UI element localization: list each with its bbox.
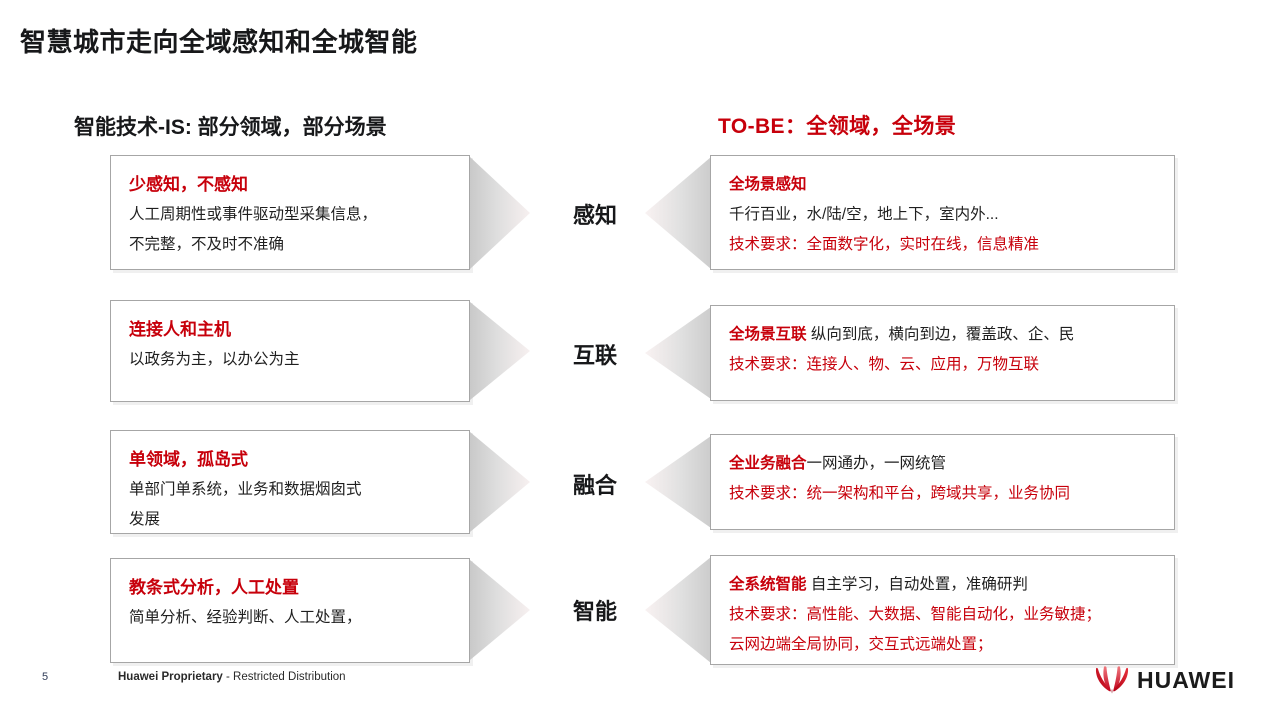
to-be-card-3: 全业务融合一网通办，一网统管 技术要求：统一架构和平台，跨域共享，业务协同	[710, 434, 1175, 530]
as-is-column-heading: 智能技术-IS: 部分领域，部分场景	[74, 111, 387, 141]
arrow-right-icon-2	[470, 302, 530, 400]
footer-confidentiality-notice: Huawei Proprietary - Restricted Distribu…	[118, 671, 346, 683]
arrow-left-icon-2	[645, 307, 711, 399]
as-is-card-3-line-1: 单部门单系统，业务和数据烟囱式	[129, 475, 451, 505]
to-be-card-1-headline: 全场景感知	[729, 170, 1156, 200]
to-be-card-1-line-1: 千行百业，水/陆/空，地上下，室内外...	[729, 200, 1156, 230]
as-is-card-1-line-1: 人工周期性或事件驱动型采集信息，	[129, 200, 451, 230]
to-be-card-3-headline-rest: 一网通办，一网统管	[807, 455, 947, 472]
to-be-card-4-headline-red: 全系统智能	[729, 576, 807, 593]
arrow-left-icon-3	[645, 436, 711, 528]
as-is-card-4: 教条式分析，人工处置 简单分析、经验判断、人工处置，	[110, 558, 470, 663]
to-be-card-2-headline-rest: 纵向到底，横向到边，覆盖政、企、民	[807, 326, 1075, 343]
to-be-card-2-headline-red: 全场景互联	[729, 326, 807, 343]
to-be-card-4-line-2: 云网边端全局协同，交互式远端处置；	[729, 630, 1156, 660]
to-be-card-4-headline-rest: 自主学习，自动处置，准确研判	[807, 576, 1028, 593]
to-be-column-heading: TO-BE：全领域，全场景	[718, 110, 956, 140]
to-be-card-4-headline: 全系统智能 自主学习，自动处置，准确研判	[729, 570, 1156, 600]
to-be-card-2: 全场景互联 纵向到底，横向到边，覆盖政、企、民 技术要求：连接人、物、云、应用，…	[710, 305, 1175, 401]
arrow-left-icon-1	[645, 157, 711, 269]
arrow-left-icon-4	[645, 557, 711, 663]
as-is-card-1-line-2: 不完整，不及时不准确	[129, 230, 451, 260]
page-title: 智慧城市走向全域感知和全城智能	[20, 22, 418, 59]
to-be-card-2-line-1: 技术要求：连接人、物、云、应用，万物互联	[729, 350, 1156, 380]
as-is-card-3: 单领域，孤岛式 单部门单系统，业务和数据烟囱式 发展	[110, 430, 470, 534]
to-be-card-3-headline: 全业务融合一网通办，一网统管	[729, 449, 1156, 479]
stage-label-intelligence: 智能	[555, 594, 635, 626]
as-is-card-2-line-1: 以政务为主，以办公为主	[129, 345, 451, 375]
as-is-card-1-title: 少感知，不感知	[129, 170, 451, 200]
as-is-card-2-title: 连接人和主机	[129, 315, 451, 345]
as-is-card-4-line-1: 简单分析、经验判断、人工处置，	[129, 603, 451, 633]
as-is-card-2: 连接人和主机 以政务为主，以办公为主	[110, 300, 470, 402]
footer-notice-prefix: Huawei Proprietary	[118, 671, 223, 683]
to-be-card-4-line-1: 技术要求：高性能、大数据、智能自动化，业务敏捷；	[729, 600, 1156, 630]
huawei-flower-icon	[1095, 666, 1129, 694]
to-be-card-1-line-2: 技术要求：全面数字化，实时在线，信息精准	[729, 230, 1156, 260]
to-be-card-2-headline: 全场景互联 纵向到底，横向到边，覆盖政、企、民	[729, 320, 1156, 350]
as-is-card-1: 少感知，不感知 人工周期性或事件驱动型采集信息， 不完整，不及时不准确	[110, 155, 470, 270]
to-be-card-1-headline-red: 全场景感知	[729, 176, 807, 193]
stage-label-perception: 感知	[555, 198, 635, 230]
stage-label-connection: 互联	[555, 338, 635, 370]
arrow-right-icon-1	[470, 157, 530, 269]
stage-label-convergence: 融合	[555, 468, 635, 500]
to-be-card-1: 全场景感知 千行百业，水/陆/空，地上下，室内外... 技术要求：全面数字化，实…	[710, 155, 1175, 270]
to-be-card-4: 全系统智能 自主学习，自动处置，准确研判 技术要求：高性能、大数据、智能自动化，…	[710, 555, 1175, 665]
as-is-card-4-title: 教条式分析，人工处置	[129, 573, 451, 603]
huawei-wordmark: HUAWEI	[1137, 667, 1235, 694]
arrow-right-icon-4	[470, 560, 530, 660]
as-is-card-3-line-2: 发展	[129, 505, 451, 535]
page-number: 5	[42, 671, 48, 683]
to-be-card-3-headline-red: 全业务融合	[729, 455, 807, 472]
footer-notice-suffix: - Restricted Distribution	[226, 671, 346, 683]
to-be-card-3-line-1: 技术要求：统一架构和平台，跨域共享，业务协同	[729, 479, 1156, 509]
as-is-card-3-title: 单领域，孤岛式	[129, 445, 451, 475]
huawei-logo: HUAWEI	[1095, 666, 1235, 694]
arrow-right-icon-3	[470, 432, 530, 532]
